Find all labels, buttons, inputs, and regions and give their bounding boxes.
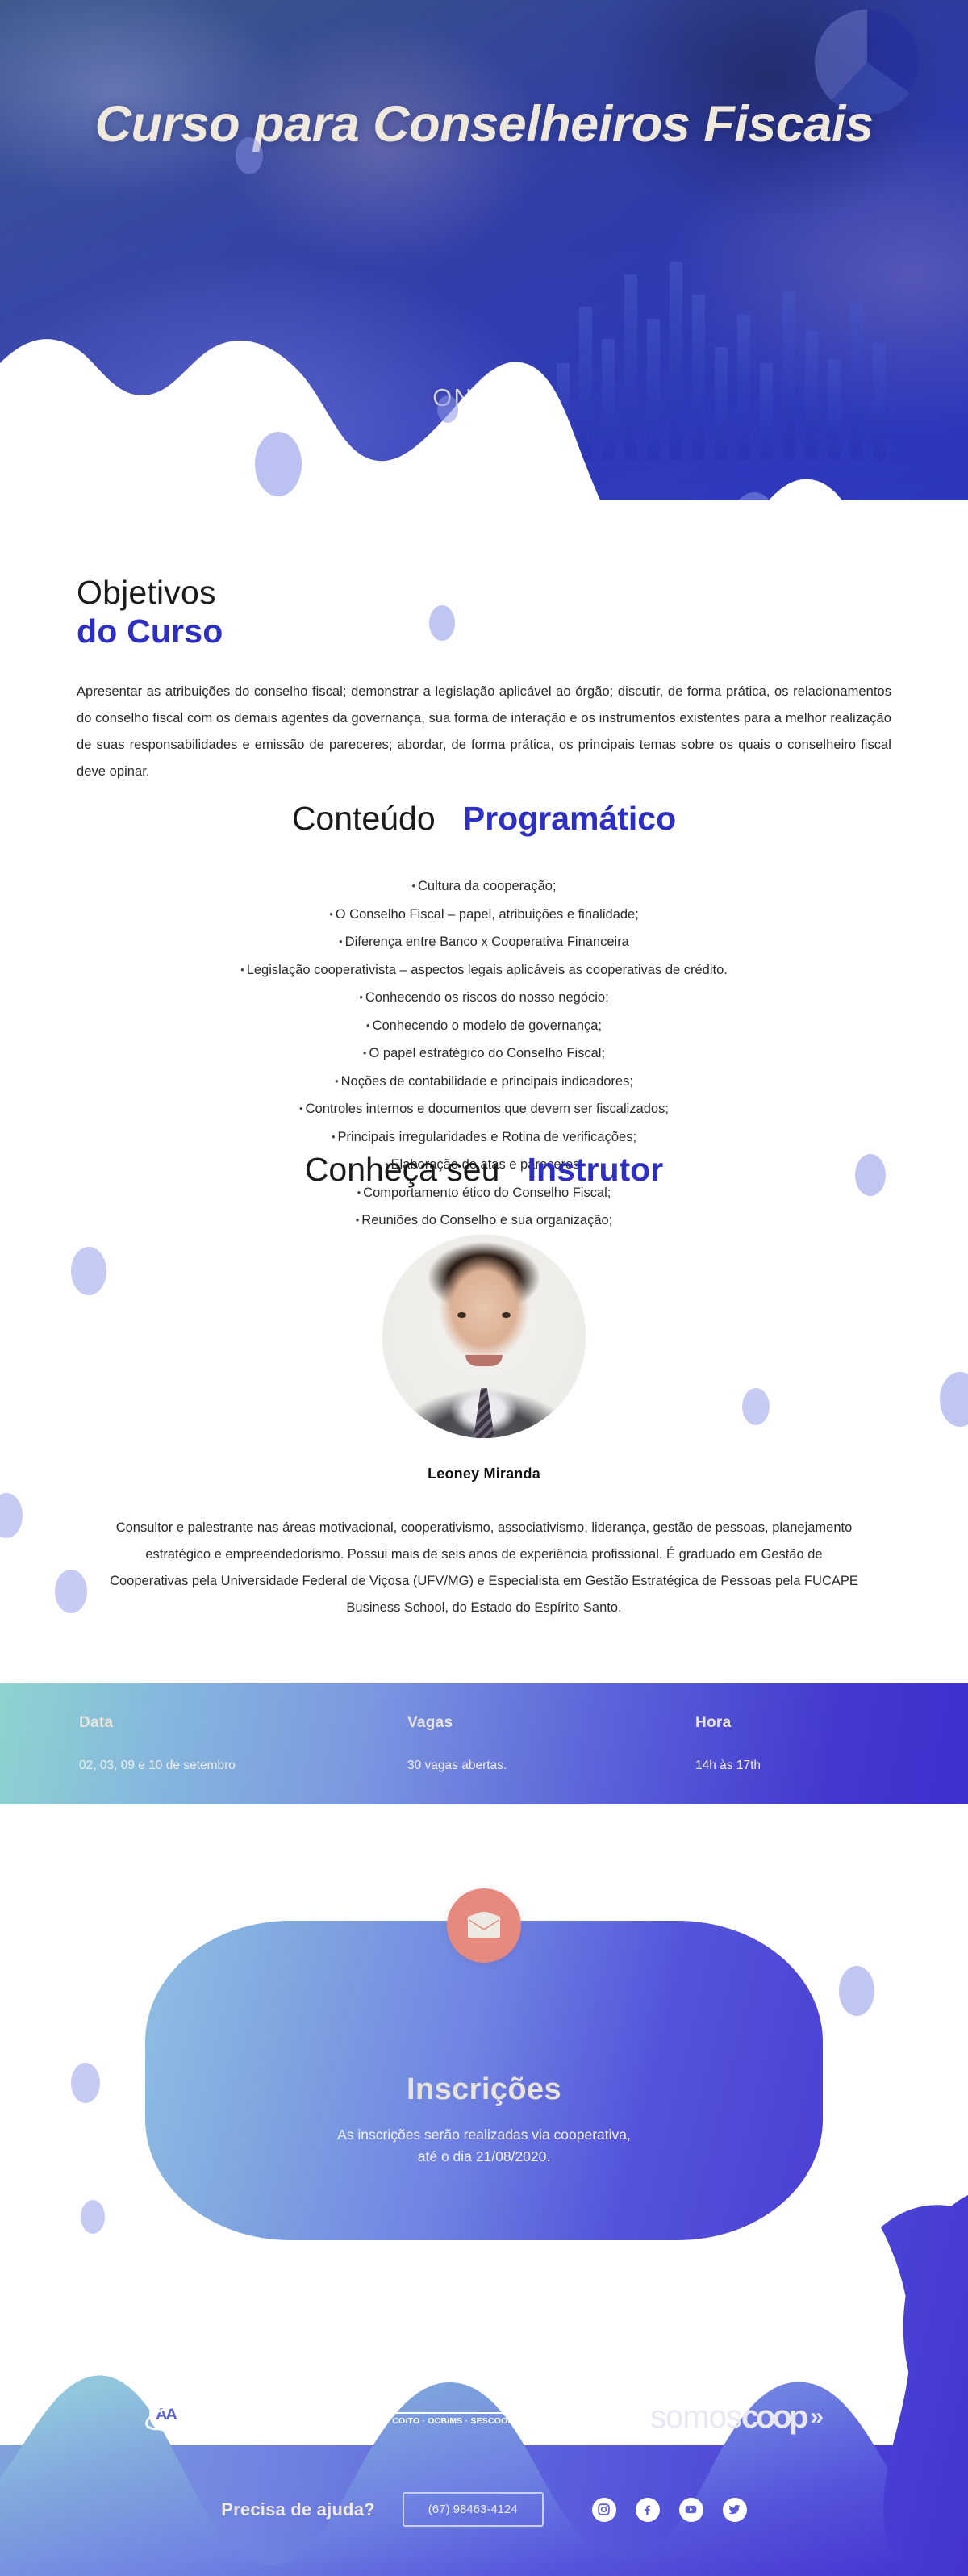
- ocbms-subtitle: FECOOP CO/TO · OCB/MS · SESCOOP/MS: [353, 2412, 529, 2426]
- hero-section: Curso para Conselheiros Fiscais ONLINE: [0, 0, 968, 500]
- bullet-icon: •: [363, 1047, 367, 1059]
- info-column-slots: Vagas 30 vagas abertas.: [407, 1714, 507, 1773]
- decor-dot: [855, 1154, 886, 1196]
- syllabus-heading: Conteúdo Programático: [0, 799, 968, 838]
- instagram-icon[interactable]: [592, 2498, 616, 2522]
- syllabus-heading-bold: Programático: [463, 800, 676, 837]
- objectives-heading-light: Objetivos: [77, 573, 891, 612]
- objectives-body: Apresentar as atribuições do conselho fi…: [77, 679, 891, 785]
- info-time-value: 14h às 17th: [695, 1758, 761, 1773]
- ocbms-logo: AA SistemaOCB/MS FECOOP CO/TO · OCB/MS ·…: [144, 2396, 529, 2438]
- ocbms-mark-icon: AA: [144, 2396, 191, 2438]
- syllabus-item-label: O Conselho Fiscal – papel, atribuições e…: [336, 907, 639, 922]
- decor-dot: [429, 605, 455, 641]
- avatar-mouth: [465, 1355, 503, 1366]
- syllabus-item: •Diferença entre Banco x Cooperativa Fin…: [0, 928, 968, 956]
- footer-logos: AA SistemaOCB/MS FECOOP CO/TO · OCB/MS ·…: [0, 2373, 968, 2461]
- hero-wave-divider: [0, 307, 968, 500]
- decor-dot: [742, 1388, 770, 1425]
- info-column-time: Hora 14h às 17th: [695, 1714, 761, 1773]
- instructor-heading-bold: Instrutor: [528, 1151, 664, 1188]
- social-links: [592, 2498, 747, 2522]
- instructor-heading-light: Conheça seu: [305, 1151, 500, 1188]
- bullet-icon: •: [359, 991, 363, 1003]
- help-label: Precisa de ajuda?: [221, 2499, 375, 2520]
- avatar-eye-right: [502, 1312, 511, 1318]
- decor-dot: [71, 2063, 100, 2103]
- syllabus-item: •Legislação cooperativista – aspectos le…: [0, 956, 968, 985]
- envelope-icon: [447, 1888, 521, 1963]
- facebook-icon[interactable]: [636, 2498, 660, 2522]
- bullet-icon: •: [339, 935, 343, 947]
- syllabus-item-label: O papel estratégico do Conselho Fiscal;: [369, 1046, 605, 1060]
- syllabus-item: •O papel estratégico do Conselho Fiscal;: [0, 1039, 968, 1068]
- decor-dot: [71, 1247, 106, 1295]
- syllabus-item: •Conhecendo os riscos do nosso negócio;: [0, 984, 968, 1012]
- instructor-heading: Conheça seu Instrutor: [0, 1150, 968, 1190]
- instructor-section: Conheça seu Instrutor Leoney Miranda Con…: [0, 1150, 968, 1621]
- somoscoop-arrow-icon: »: [810, 2403, 824, 2431]
- syllabus-item-label: Noções de contabilidade e principais ind…: [341, 1074, 633, 1089]
- avatar-necktie: [474, 1388, 494, 1438]
- info-date-label: Data: [79, 1714, 236, 1732]
- somoscoop-light: somos: [650, 2399, 741, 2436]
- syllabus-item-label: Conhecendo os riscos do nosso negócio;: [365, 990, 609, 1005]
- ocbms-logo-text: SistemaOCB/MS FECOOP CO/TO · OCB/MS · SE…: [199, 2407, 529, 2428]
- bullet-icon: •: [299, 1102, 303, 1114]
- bullet-icon: •: [335, 1075, 339, 1087]
- syllabus-item-label: Controles internos e documentos que deve…: [306, 1102, 669, 1116]
- syllabus-item: •Conhecendo o modelo de governança;: [0, 1012, 968, 1040]
- decor-dot: [236, 137, 263, 174]
- syllabus-item-label: Principais irregularidades e Rotina de v…: [338, 1130, 637, 1144]
- info-date-value: 02, 03, 09 e 10 de setembro: [79, 1758, 236, 1773]
- decor-dot: [839, 1966, 874, 2016]
- bullet-icon: •: [329, 908, 333, 920]
- info-slots-value: 30 vagas abertas.: [407, 1758, 507, 1773]
- syllabus-item: •Cultura da cooperação;: [0, 872, 968, 901]
- bullet-icon: •: [411, 880, 415, 892]
- syllabus-item-label: Cultura da cooperação;: [418, 879, 557, 893]
- decor-dot: [255, 432, 302, 496]
- syllabus-item: •Controles internos e documentos que dev…: [0, 1095, 968, 1123]
- objectives-section: Objetivos do Curso Apresentar as atribui…: [0, 573, 968, 785]
- course-info-band: Data 02, 03, 09 e 10 de setembro Vagas 3…: [0, 1683, 968, 1804]
- instructor-bio: Consultor e palestrante nas áreas motiva…: [109, 1515, 859, 1621]
- instructor-name: Leoney Miranda: [0, 1466, 968, 1482]
- landing-page: Curso para Conselheiros Fiscais ONLINE: [0, 0, 968, 2576]
- ocbms-brand-bold: OCB/MS: [270, 2406, 349, 2428]
- phone-button[interactable]: (67) 98463-4124: [403, 2492, 544, 2527]
- instructor-avatar: [382, 1235, 586, 1438]
- info-time-label: Hora: [695, 1714, 761, 1732]
- bullet-icon: •: [240, 964, 244, 976]
- objectives-heading-bold: do Curso: [77, 612, 891, 650]
- syllabus-item-label: Legislação cooperativista – aspectos leg…: [247, 963, 728, 977]
- avatar-eye-left: [457, 1312, 466, 1318]
- syllabus-item: •Principais irregularidades e Rotina de …: [0, 1123, 968, 1152]
- help-bar: Precisa de ajuda? (67) 98463-4124: [0, 2492, 968, 2527]
- syllabus-item-label: Diferença entre Banco x Cooperativa Fina…: [345, 935, 629, 949]
- decor-dot: [437, 395, 458, 423]
- syllabus-item-label: Conhecendo o modelo de governança;: [373, 1018, 602, 1033]
- somoscoop-bold: coop: [741, 2399, 806, 2436]
- info-column-date: Data 02, 03, 09 e 10 de setembro: [79, 1714, 236, 1773]
- bullet-icon: •: [366, 1019, 370, 1031]
- syllabus-item: •Noções de contabilidade e principais in…: [0, 1068, 968, 1096]
- somoscoop-logo: somos coop »: [650, 2399, 824, 2436]
- syllabus-item: •O Conselho Fiscal – papel, atribuições …: [0, 901, 968, 929]
- ocbms-brand-light: Sistema: [199, 2406, 270, 2428]
- bullet-icon: •: [332, 1131, 336, 1143]
- twitter-icon[interactable]: [723, 2498, 747, 2522]
- page-title: Curso para Conselheiros Fiscais: [0, 95, 968, 154]
- info-slots-label: Vagas: [407, 1714, 507, 1732]
- syllabus-heading-light: Conteúdo: [292, 800, 436, 837]
- youtube-icon[interactable]: [679, 2498, 703, 2522]
- decor-dot: [55, 1570, 87, 1613]
